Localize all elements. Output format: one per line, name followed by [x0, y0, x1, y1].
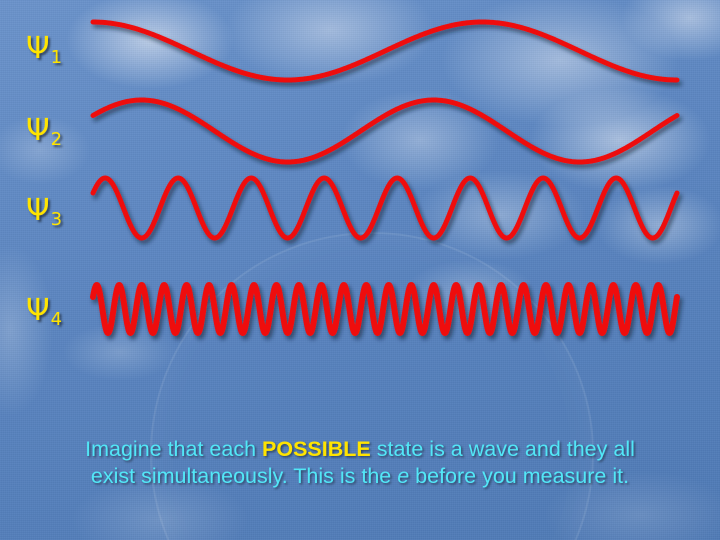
- psi-subscript-2: 2: [51, 129, 62, 150]
- wave-path-psi-1: [93, 22, 677, 80]
- psi-subscript-4: 4: [51, 309, 62, 330]
- psi-symbol-2: Ψ: [26, 113, 50, 148]
- caption-highlight-possible: POSSIBLE: [262, 437, 371, 461]
- psi-subscript-1: 1: [51, 47, 62, 68]
- slide-canvas: Ψ1 Ψ2 Ψ3 Ψ4 Imagine that each POSSIBLE s…: [0, 0, 720, 540]
- wave-path-psi-2: [93, 100, 677, 162]
- psi-label-3: Ψ3: [26, 196, 62, 229]
- psi-symbol-1: Ψ: [26, 31, 50, 66]
- psi-label-2: Ψ2: [26, 116, 62, 149]
- caption-line-2: exist simultaneously. This is the e befo…: [34, 463, 686, 490]
- psi-label-4: Ψ4: [26, 296, 62, 329]
- psi-label-1: Ψ1: [26, 34, 62, 67]
- psi-subscript-3: 3: [51, 209, 62, 230]
- caption-line2-before: exist simultaneously. This is the: [91, 464, 397, 488]
- psi-symbol-3: Ψ: [26, 193, 50, 228]
- caption-line2-after: before you measure it.: [409, 464, 629, 488]
- psi-symbol-4: Ψ: [26, 293, 50, 328]
- caption-text: Imagine that each POSSIBLE state is a wa…: [0, 436, 720, 490]
- wave-path-psi-3: [93, 178, 677, 238]
- caption-italic-e: e: [397, 464, 409, 488]
- caption-line-1: Imagine that each POSSIBLE state is a wa…: [34, 436, 686, 463]
- caption-line1-before: Imagine that each: [85, 437, 262, 461]
- wave-path-psi-4: [93, 285, 677, 333]
- caption-line1-after: state is a wave and they all: [371, 437, 635, 461]
